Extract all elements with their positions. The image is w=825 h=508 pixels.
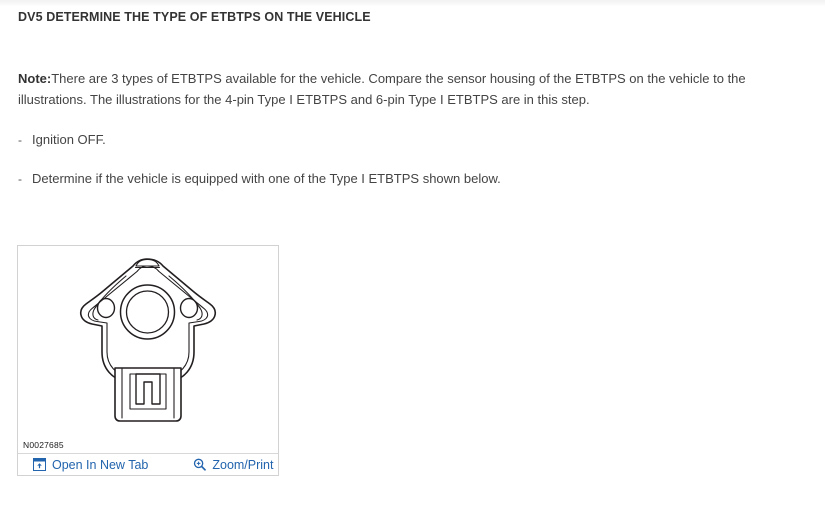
list-item-label: Ignition OFF. (32, 130, 808, 150)
service-procedure-page: DV5 DETERMINE THE TYPE OF ETBTPS ON THE … (0, 0, 825, 508)
note-text: There are 3 types of ETBTPS available fo… (18, 71, 746, 107)
bullet-dash-icon: - (18, 169, 32, 189)
figure-panel: N0027685 Open In New Tab (17, 245, 279, 476)
bullet-dash-icon: - (18, 130, 32, 150)
figure-toolbar: Open In New Tab Zoom/Print (18, 454, 278, 475)
instruction-list: - Ignition OFF. - Determine if the vehic… (18, 130, 808, 208)
open-in-new-tab-button[interactable]: Open In New Tab (32, 458, 148, 472)
note-label: Note: (18, 71, 51, 86)
list-item-label: Determine if the vehicle is equipped wit… (32, 169, 808, 189)
figure-caption: N0027685 (23, 440, 64, 450)
etbtps-sensor-illustration (18, 246, 278, 438)
figure-image (18, 246, 278, 438)
page-title: DV5 DETERMINE THE TYPE OF ETBTPS ON THE … (18, 10, 371, 24)
open-in-new-tab-label: Open In New Tab (52, 458, 148, 472)
note-paragraph: Note:There are 3 types of ETBTPS availab… (18, 68, 808, 110)
open-in-new-window-icon (32, 458, 46, 472)
zoom-print-label: Zoom/Print (212, 458, 273, 472)
zoom-print-button[interactable]: Zoom/Print (192, 458, 273, 472)
list-item: - Determine if the vehicle is equipped w… (18, 169, 808, 189)
magnifier-plus-icon (192, 458, 206, 472)
list-item: - Ignition OFF. (18, 130, 808, 150)
